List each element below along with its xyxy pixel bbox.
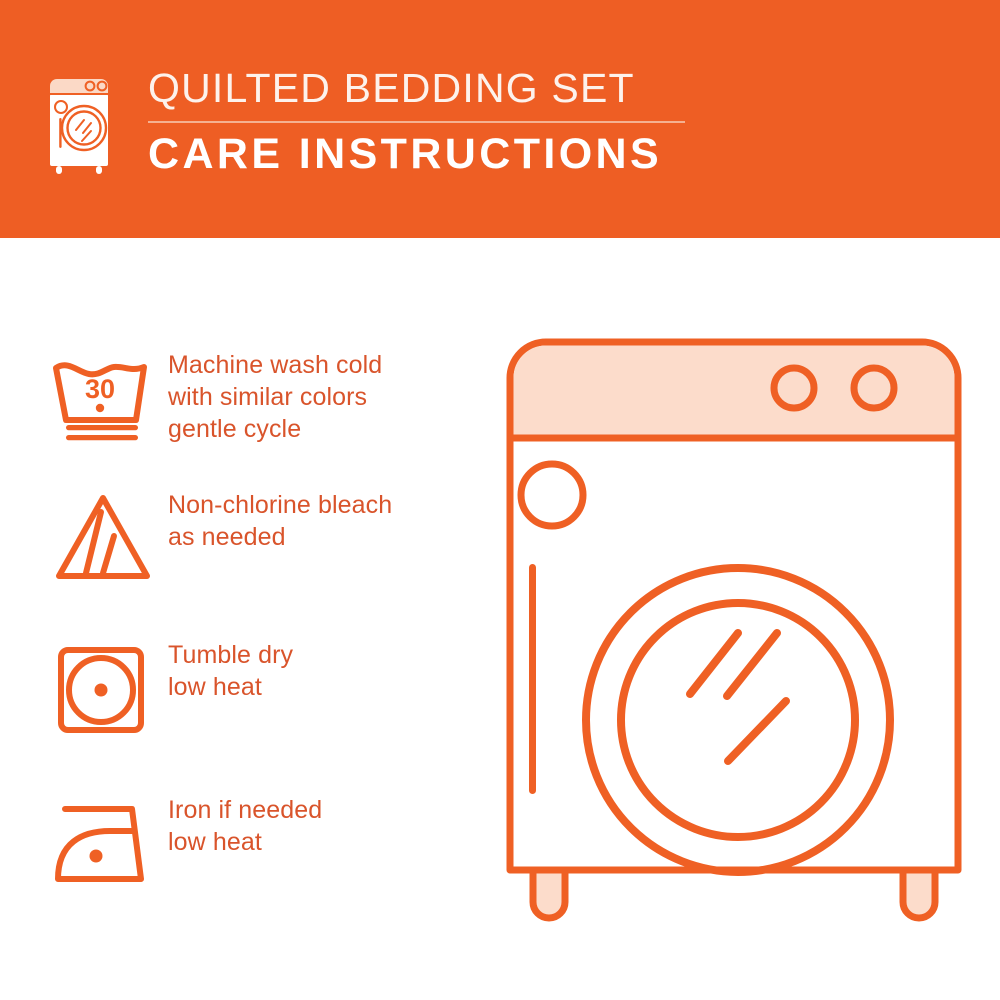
detergent-slot [529,564,536,794]
control-panel [514,346,955,439]
care-instructions-list: 30 Machine wash cold with similar colors… [0,238,480,1000]
care-instruction-text: Non-chlorine bleach as needed [168,488,468,554]
header-text-block: QUILTED BEDDING SET CARE INSTRUCTIONS [148,68,768,176]
care-text-line: gentle cycle [168,414,468,446]
wash-tub-30-gentle-icon: 30 [48,348,168,448]
care-instruction-item-iron: Iron if needed low heat [48,793,468,893]
care-text-line: low heat [168,827,468,859]
care-instruction-item-wash: 30 Machine wash cold with similar colors… [48,348,468,448]
iron-low-heat-icon [48,793,168,893]
care-text-line: Non-chlorine bleach [168,490,468,522]
care-instruction-text: Tumble dry low heat [168,638,468,704]
care-text-line: low heat [168,672,468,704]
care-text-line: Iron if needed [168,795,468,827]
header-divider [148,121,685,123]
wash-temperature-label: 30 [85,374,115,404]
care-instruction-text: Iron if needed low heat [168,793,468,859]
front-load-washing-machine-illustration [488,320,980,940]
care-text-line: Machine wash cold [168,350,468,382]
care-text-line: Tumble dry [168,640,468,672]
page-title: QUILTED BEDDING SET [148,68,768,113]
non-chlorine-bleach-triangle-icon [48,488,168,588]
care-text-line: with similar colors [168,382,468,414]
care-text-line: as needed [168,522,468,554]
tumble-dry-low-heat-icon [48,638,168,738]
header-banner: QUILTED BEDDING SET CARE INSTRUCTIONS [0,0,1000,238]
care-instruction-text: Machine wash cold with similar colors ge… [168,348,468,445]
washing-machine-icon [45,72,117,176]
care-instruction-item-bleach: Non-chlorine bleach as needed [48,488,468,588]
care-instruction-item-tumble-dry: Tumble dry low heat [48,638,468,738]
page-subtitle: CARE INSTRUCTIONS [148,129,768,176]
